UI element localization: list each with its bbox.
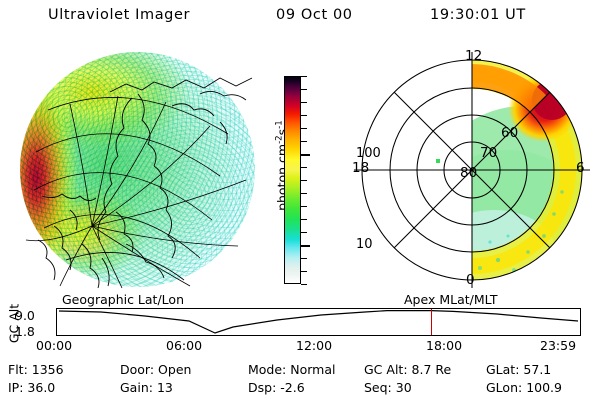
time-cursor[interactable]	[431, 309, 432, 336]
status-gcalt-label: GC Alt:	[364, 362, 408, 377]
header: Ultraviolet Imager 09 Oct 00 19:30:01 UT	[0, 4, 600, 30]
status-gain-value: 13	[157, 380, 173, 395]
status-flt-value: 1356	[32, 362, 64, 377]
status-seq-value: 30	[396, 380, 412, 395]
status-flt-label: Flt:	[8, 362, 28, 377]
status-door-value: Open	[158, 362, 191, 377]
status-glat-label: GLat:	[486, 362, 519, 377]
status-glon-value: 100.9	[526, 380, 562, 395]
polar-panel-title: Apex MLat/MLT	[404, 292, 498, 307]
mlat-ring-label-70: 70	[480, 147, 497, 161]
status-gain-label: Gain:	[120, 380, 153, 395]
status-glat: GLat: 57.1	[486, 362, 551, 377]
strip-plot-area[interactable]	[56, 308, 581, 336]
status-mode-label: Mode:	[248, 362, 286, 377]
status-gcalt: GC Alt: 8.7 Re	[364, 362, 451, 377]
strip-ytick-bottom: 1.8	[15, 324, 35, 339]
polar-plot-panel[interactable]: 12 6 0 18 60 70 80	[348, 46, 596, 294]
status-flt: Flt: 1356	[8, 362, 64, 377]
status-mode: Mode: Normal	[248, 362, 336, 377]
colorbar-unit-sup2: -1	[274, 120, 284, 129]
mlt-label-6: 6	[576, 162, 585, 176]
mlat-ring-label-80: 80	[460, 167, 477, 181]
observation-date: 09 Oct 00	[276, 7, 353, 23]
status-dsp-label: Dsp:	[248, 380, 276, 395]
colorbar-gradient	[284, 76, 301, 284]
geographic-panel-title: Geographic Lat/Lon	[62, 292, 184, 307]
colorbar[interactable]: photon cm-2s-1 100 10	[258, 62, 346, 292]
observation-time: 19:30:01 UT	[430, 7, 526, 23]
status-ip-value: 36.0	[27, 380, 55, 395]
gc-altitude-curve	[57, 309, 580, 335]
uvi-display: Ultraviolet Imager 09 Oct 00 19:30:01 UT	[0, 0, 600, 400]
status-door-label: Door:	[120, 362, 154, 377]
orbit-altitude-strip-chart[interactable]: Geographic Lat/Lon Apex MLat/MLT GC Alt …	[0, 292, 600, 356]
strip-ytick-top: 9.0	[15, 308, 35, 323]
strip-xtick-3: 18:00	[426, 338, 462, 353]
status-mode-value: Normal	[290, 362, 335, 377]
status-dsp: Dsp: -2.6	[248, 380, 305, 395]
strip-xtick-1: 06:00	[166, 338, 202, 353]
status-seq: Seq: 30	[364, 380, 412, 395]
strip-xtick-2: 12:00	[296, 338, 332, 353]
status-door: Door: Open	[120, 362, 191, 377]
mlt-label-18: 18	[352, 162, 369, 176]
strip-xtick-4: 23:59	[540, 338, 576, 353]
colorbar-unit-sup1: -2	[274, 135, 284, 144]
status-gcalt-value: 8.7 Re	[412, 362, 452, 377]
status-bar: Flt: 1356 Door: Open Mode: Normal GC Alt…	[0, 360, 600, 400]
geographic-image-panel[interactable]	[14, 48, 259, 293]
mlt-label-12: 12	[465, 50, 482, 64]
status-glat-value: 57.1	[523, 362, 551, 377]
mlt-label-0: 0	[466, 274, 475, 288]
geographic-grid-overlay	[14, 48, 259, 293]
status-glon-label: GLon:	[486, 380, 522, 395]
status-ip-label: IP:	[8, 380, 23, 395]
status-gain: Gain: 13	[120, 380, 173, 395]
instrument-title: Ultraviolet Imager	[48, 7, 190, 23]
mlat-ring-label-60: 60	[501, 127, 518, 141]
strip-xtick-0: 00:00	[36, 338, 72, 353]
status-dsp-value: -2.6	[280, 380, 304, 395]
status-ip: IP: 36.0	[8, 380, 55, 395]
status-glon: GLon: 100.9	[486, 380, 562, 395]
status-seq-label: Seq:	[364, 380, 392, 395]
